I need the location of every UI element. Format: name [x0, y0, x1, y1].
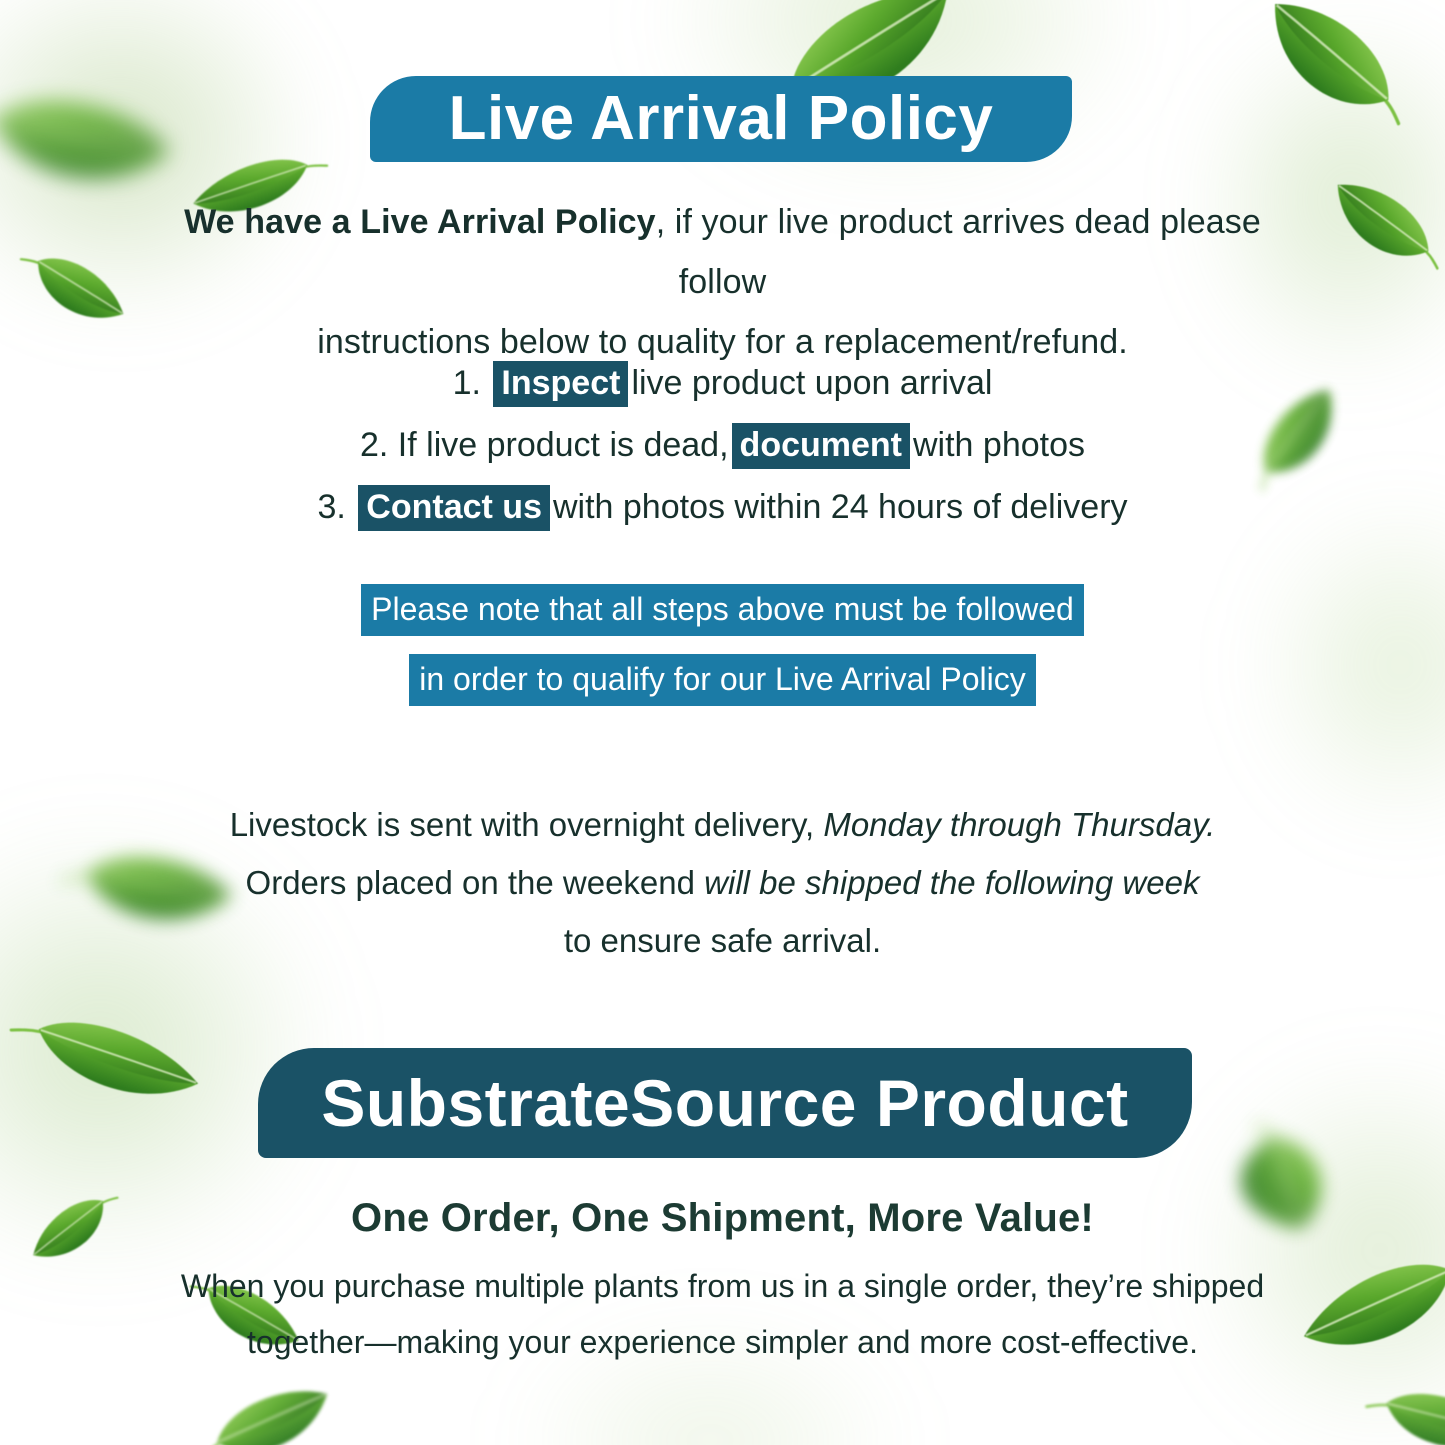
policy-note-callout: Please note that all steps above must be…	[150, 584, 1295, 706]
shipping-schedule-paragraph: Livestock is sent with overnight deliver…	[150, 796, 1295, 970]
leaf-left-mid-small-icon	[1, 220, 144, 352]
list-item: 2. If live product is dead,documentwith …	[150, 414, 1295, 476]
leaf-left-long-icon	[0, 974, 220, 1138]
status-badge: document	[732, 423, 910, 469]
step-post-text: with photos	[913, 426, 1085, 464]
intro-bold-phrase: We have a Live Arrival Policy	[184, 203, 656, 241]
leaf-top-right-large-icon	[1230, 0, 1444, 162]
leaf-bottom-far-right-icon	[1352, 1359, 1445, 1445]
note-line-1: Please note that all steps above must be…	[361, 584, 1084, 636]
step-number: 1.	[453, 364, 481, 402]
policy-steps-list: 1. Inspectlive product upon arrival 2. I…	[150, 352, 1295, 538]
shipping-line2-italic: will be shipped the following week	[704, 864, 1199, 901]
leaf-right-upper-icon	[1307, 154, 1445, 298]
step-number: 3.	[317, 488, 345, 526]
list-item: 3. Contact uswith photos within 24 hours…	[150, 476, 1295, 538]
note-line-2-wrap: in order to qualify for our Live Arrival…	[150, 654, 1295, 706]
step-post-text: live product upon arrival	[631, 364, 992, 402]
live-arrival-policy-title: Live Arrival Policy	[449, 88, 994, 150]
value-copy-line-1: When you purchase multiple plants from u…	[181, 1268, 1264, 1304]
live-arrival-policy-infographic: Live Arrival Policy We have a Live Arriv…	[0, 0, 1445, 1445]
value-tagline: One Order, One Shipment, More Value!	[150, 1190, 1295, 1246]
step-post-text: with photos within 24 hours of delivery	[553, 488, 1128, 526]
leaf-bottom-left-sm-icon	[13, 1166, 136, 1286]
intro-rest-text: , if your live product arrives dead plea…	[656, 203, 1261, 301]
substratesource-product-banner: SubstrateSource Product	[258, 1048, 1192, 1158]
step-number: 2.	[360, 426, 388, 464]
note-spacer	[150, 636, 1295, 654]
value-description-paragraph: When you purchase multiple plants from u…	[130, 1258, 1315, 1370]
substratesource-product-title: SubstrateSource Product	[321, 1070, 1128, 1136]
status-badge: Inspect	[493, 361, 628, 407]
shipping-line1-italic: Monday through Thursday.	[823, 806, 1215, 843]
leaf-bottom-center-icon	[181, 1362, 349, 1445]
live-arrival-policy-banner: Live Arrival Policy	[370, 76, 1072, 162]
value-copy-line-2: together—making your experience simpler …	[247, 1324, 1198, 1360]
shipping-line1-plain: Livestock is sent with overnight deliver…	[230, 806, 814, 843]
list-item: 1. Inspectlive product upon arrival	[150, 352, 1295, 414]
intro-paragraph: We have a Live Arrival Policy, if your l…	[150, 192, 1295, 372]
step-pre-text: If live product is dead,	[398, 426, 729, 464]
note-line-2: in order to qualify for our Live Arrival…	[409, 654, 1035, 706]
shipping-line3: to ensure safe arrival.	[564, 922, 881, 959]
status-badge: Contact us	[358, 485, 550, 531]
shipping-line2-plain: Orders placed on the weekend	[246, 864, 695, 901]
note-line-1-wrap: Please note that all steps above must be…	[150, 584, 1295, 636]
